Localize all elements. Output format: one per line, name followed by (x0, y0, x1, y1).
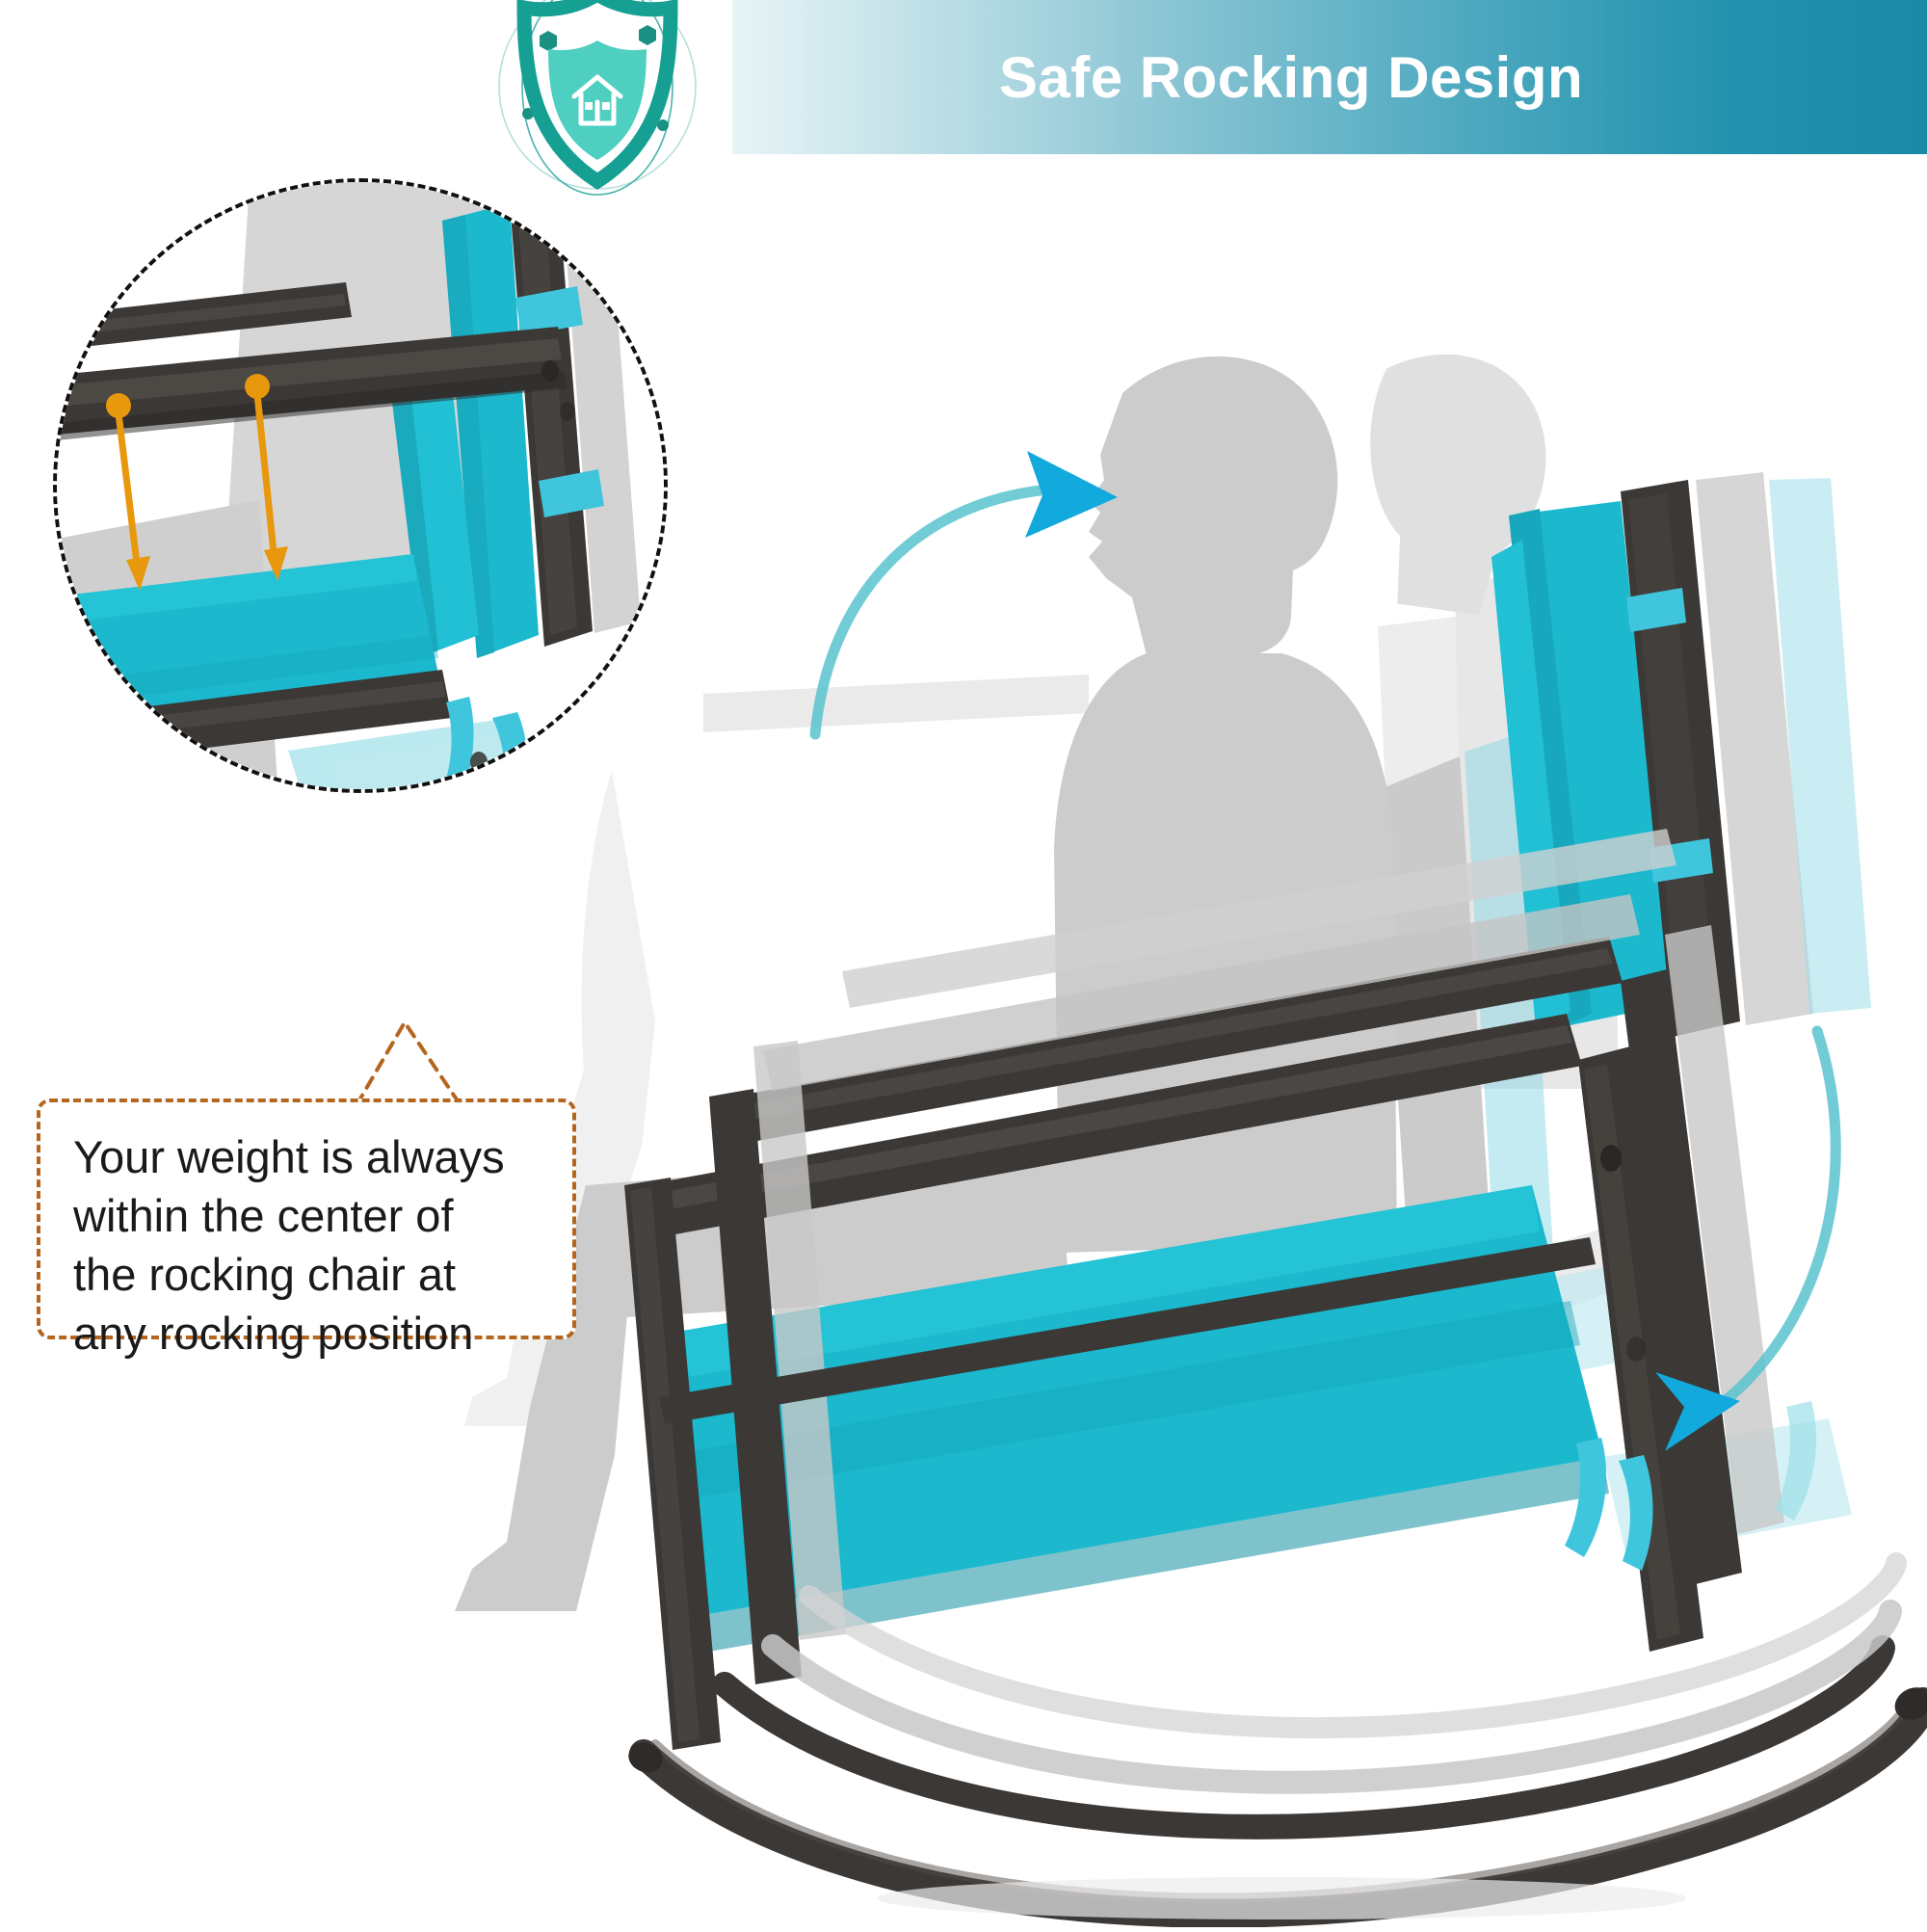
callout-line-2: within the center of (73, 1186, 543, 1245)
callout-line-1: Your weight is always (73, 1127, 543, 1186)
callout-line-4: any rocking position (73, 1304, 543, 1363)
shield-home-icon (482, 0, 713, 202)
callout-box: Your weight is always within the center … (37, 1098, 576, 1339)
callout-line-3: the rocking chair at (73, 1245, 543, 1304)
motion-arrow-backward-icon (1484, 1012, 1869, 1513)
header-banner: Safe Rocking Design (732, 0, 1927, 154)
motion-arrow-forward-icon (800, 414, 1204, 742)
detail-zoom-circle (53, 178, 668, 793)
infographic-canvas: Safe Rocking Design (0, 0, 1927, 1927)
callout-connector (347, 1017, 520, 1108)
page-title: Safe Rocking Design (999, 44, 1583, 111)
